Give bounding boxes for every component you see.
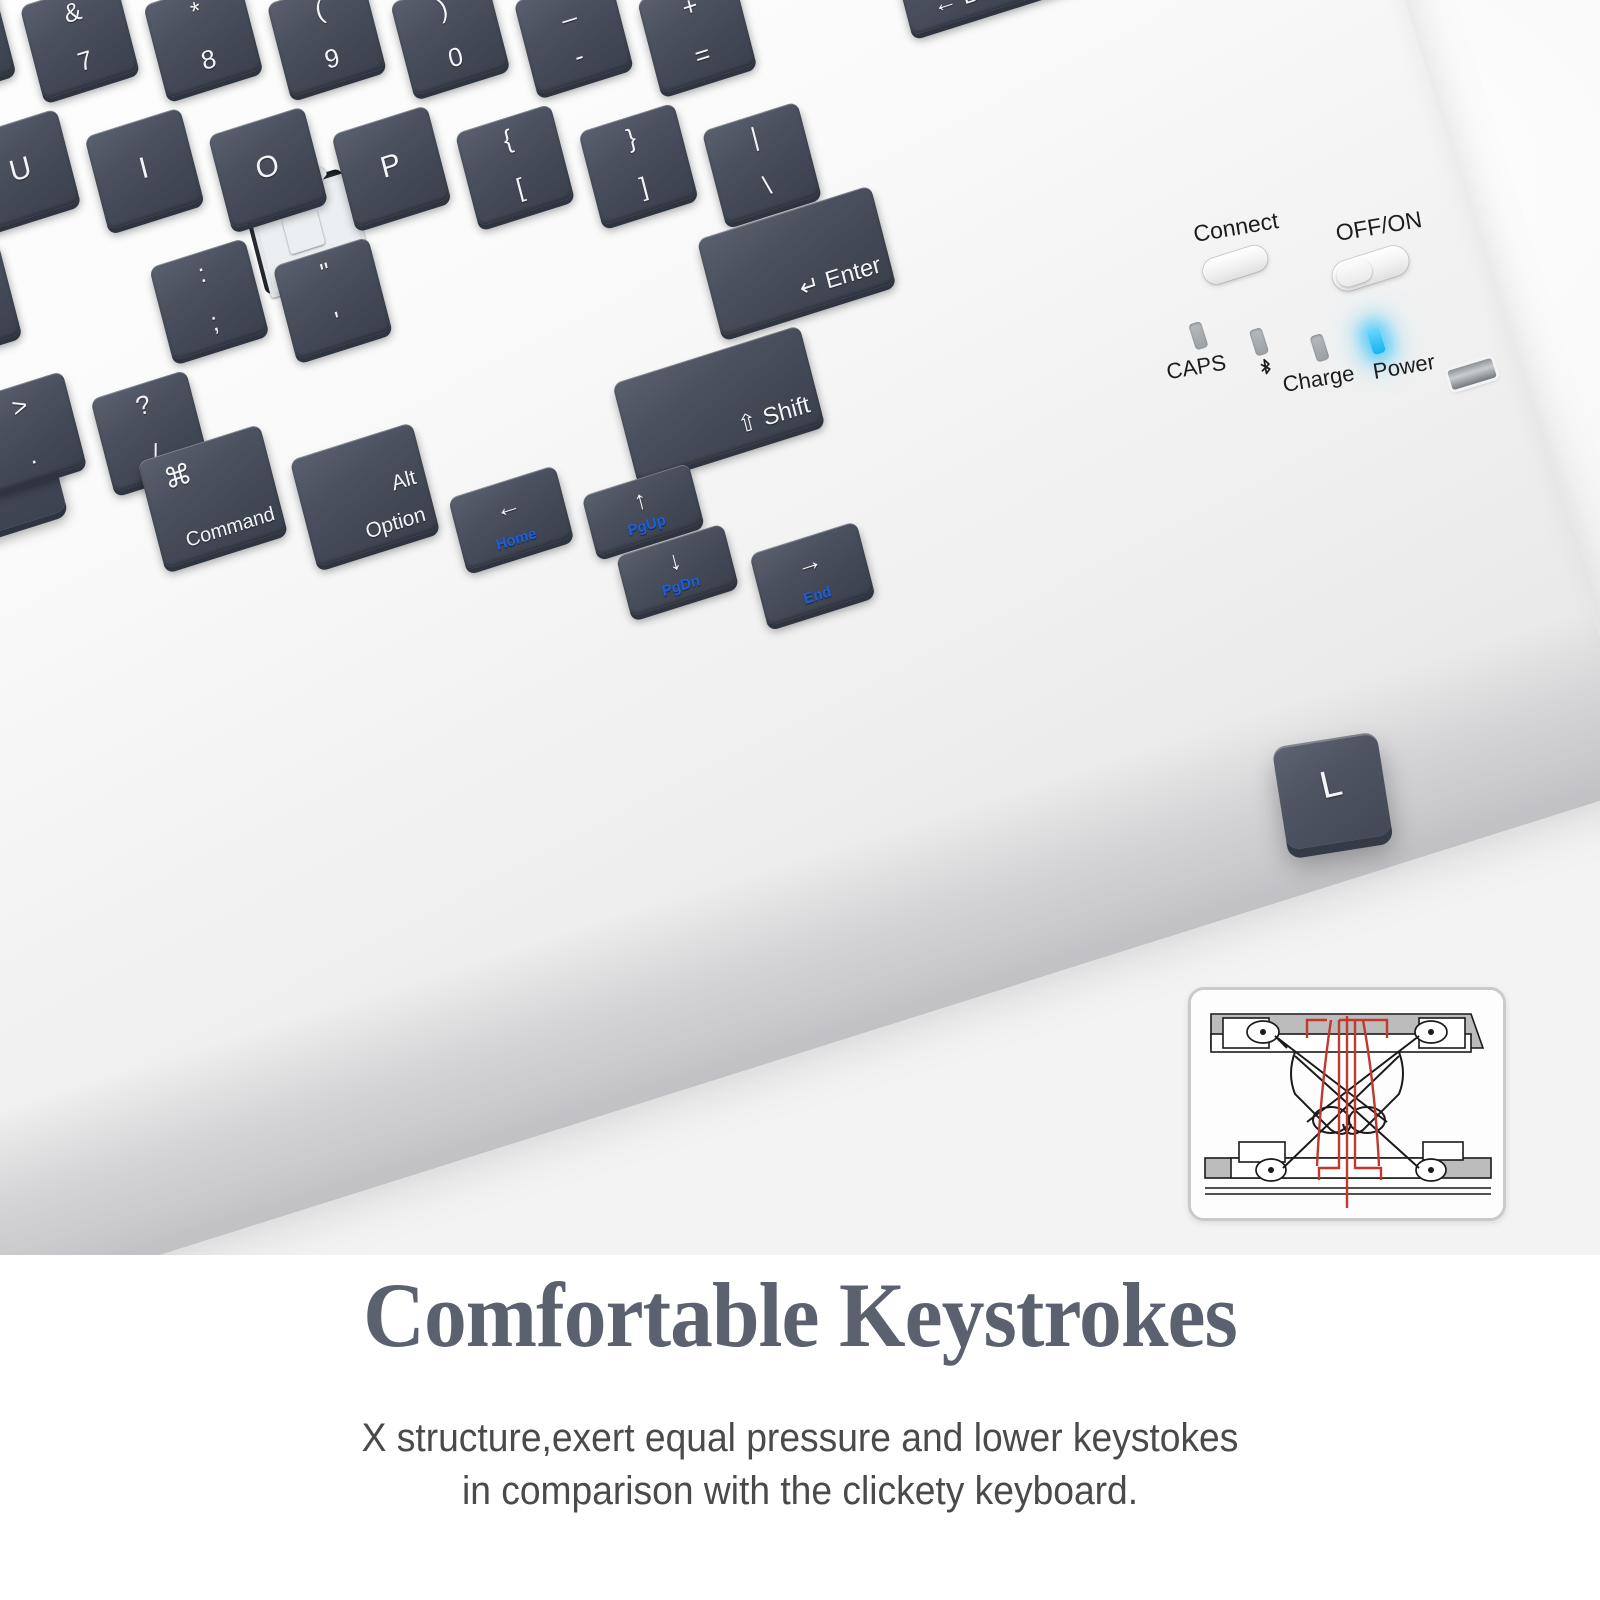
key-label: Alt [390, 467, 419, 495]
key-legend-upper: { [500, 125, 515, 153]
keyboard-product-photo: @2#3$4%5^6&7*8(9)0_-+=☐F3▢F4❐F5✂F6⏮F7⏯F8… [0, 0, 1600, 1255]
arrow-glyph: → [793, 546, 824, 579]
key-legend-upper: * [188, 0, 204, 25]
key-legend-lower: ] [637, 173, 650, 200]
subtitle-line-2: in comparison with the clickety keyboard… [56, 1465, 1544, 1518]
led-bluetooth [1249, 327, 1270, 357]
arrow-glyph: ← [492, 490, 523, 523]
key-legend-lower: = [692, 40, 713, 70]
key-command-symbol: ⌘ [161, 459, 195, 495]
key-legend-primary: I [136, 153, 151, 185]
key-legend-lower: ' [332, 307, 343, 334]
key-k0[interactable]: )0 [390, 0, 509, 96]
power-switch[interactable] [1329, 242, 1412, 294]
product-marketing-image: @2#3$4%5^6&7*8(9)0_-+=☐F3▢F4❐F5✂F6⏮F7⏯F8… [0, 0, 1600, 1600]
key-kPeriod[interactable]: >. [0, 371, 86, 494]
key-legend-upper: & [61, 0, 84, 27]
key-k6[interactable]: ^6 [0, 0, 16, 101]
key-k7[interactable]: &7 [20, 0, 139, 100]
key-legend-lower: \ [760, 172, 773, 199]
key-kU[interactable]: U [0, 108, 80, 231]
key-label: ← Backspace [930, 0, 1077, 19]
key-legend-primary: P [378, 149, 405, 184]
key-legend-lower: 7 [75, 46, 95, 76]
key-legend-lower: - [572, 42, 587, 70]
caps-label: CAPS [1165, 350, 1228, 386]
key-legend-lower: . [26, 441, 39, 468]
arrow-glyph: ↓ [665, 546, 684, 575]
key-kK[interactable]: K [0, 240, 22, 363]
led-charge [1309, 333, 1330, 363]
key-kRB[interactable]: }] [578, 103, 697, 226]
key-kplus[interactable]: += [637, 0, 756, 94]
key-legend-upper: | [748, 123, 761, 150]
key-k8[interactable]: *8 [143, 0, 262, 99]
key-legend-primary: O [253, 150, 283, 186]
key-backspace[interactable]: ← Backspace [888, 0, 1089, 36]
subtitle-line-1: X structure,exert equal pressure and low… [56, 1412, 1544, 1465]
power-label: Power [1371, 349, 1437, 385]
key-legend-lower: 8 [198, 45, 218, 75]
subtitle: X structure,exert equal pressure and low… [56, 1412, 1544, 1518]
detached-keycap-l[interactable]: L [1272, 731, 1393, 850]
key-label: Command [184, 504, 277, 551]
key-legend-upper: ) [436, 0, 451, 23]
key-legend-lower: [ [513, 174, 526, 201]
key-legend-upper: > [9, 391, 30, 421]
key-legend-upper: ? [133, 390, 153, 420]
key-legend-lower: 9 [322, 43, 342, 73]
arrow-fn-legend: PgUp [626, 512, 667, 538]
key-kSemi[interactable]: :; [149, 238, 268, 361]
arrow-glyph: ↑ [631, 485, 650, 514]
key-legend-upper: " [318, 258, 333, 286]
key-label: ⇧ Shift [735, 393, 812, 439]
key-arrow-right[interactable]: →End [749, 521, 874, 626]
key-legend-lower: 0 [445, 42, 465, 72]
key-label: ↵ Enter [797, 253, 883, 302]
power-switch-label: OFF/ON [1334, 206, 1424, 247]
key-alt-option[interactable]: AltOption [290, 422, 440, 567]
arrow-fn-legend: Home [495, 526, 539, 553]
key-k9[interactable]: (9 [267, 0, 386, 97]
key-legend-upper: : [195, 260, 208, 287]
arrow-fn-legend: End [802, 584, 833, 607]
key-legend-primary: U [6, 152, 34, 188]
detached-keycap-legend: L [1316, 762, 1346, 809]
charge-label: Charge [1281, 360, 1356, 398]
scissor-diagram-svg [1191, 990, 1503, 1218]
key-legend-upper: } [624, 124, 639, 152]
key-shift[interactable]: ⇧ Shift [612, 325, 824, 481]
key-legend-upper: _ [556, 0, 576, 22]
arrow-fn-legend: PgDn [660, 573, 701, 599]
led-power [1366, 326, 1387, 356]
key-legend-upper: + [679, 0, 700, 21]
key-kminus[interactable]: _- [513, 0, 632, 95]
connect-button[interactable] [1200, 243, 1271, 288]
key-legend-upper: ( [312, 0, 327, 24]
key-legend-lower: ; [208, 308, 221, 335]
headline: Comfortable Keystrokes [56, 1262, 1544, 1368]
key-kLB[interactable]: {[ [455, 104, 574, 227]
key-arrow-left[interactable]: ←Home [448, 465, 573, 570]
key-label-secondary: Option [363, 504, 427, 543]
bluetooth-glyph [1254, 356, 1278, 385]
key-kI[interactable]: I [84, 107, 203, 230]
bluetooth-icon [1254, 356, 1279, 392]
led-caps [1188, 321, 1209, 351]
scissor-mechanism-diagram [1188, 987, 1506, 1221]
